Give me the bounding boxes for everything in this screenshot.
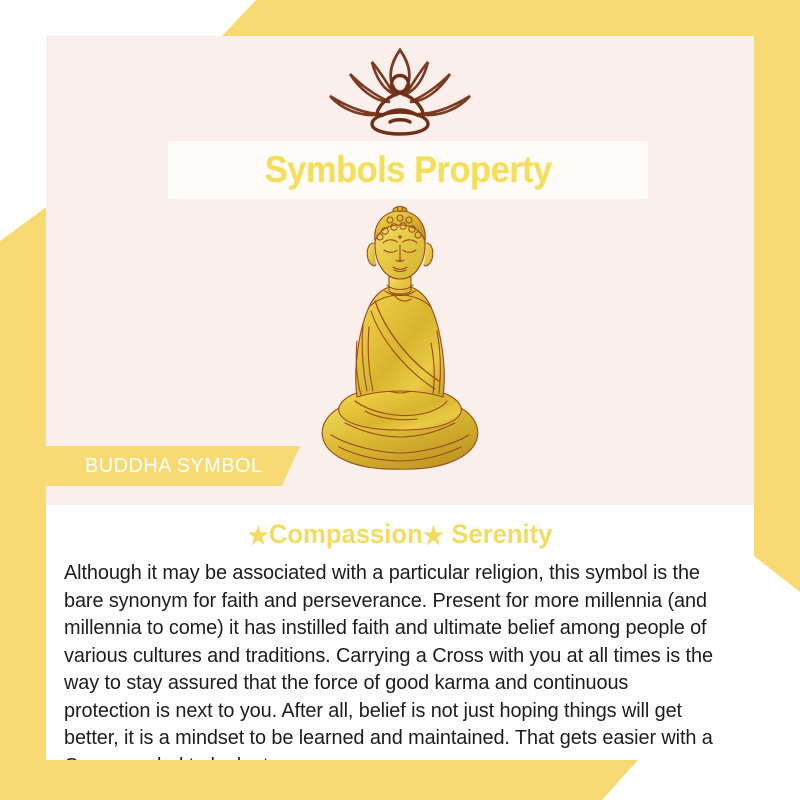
content-panel: ★Compassion★ Serenity Although it may be… bbox=[46, 505, 754, 760]
keyword-compassion: Compassion bbox=[269, 519, 423, 549]
ribbon-label: BUDDHA SYMBOL bbox=[85, 455, 262, 478]
seated-golden-buddha-statue-icon bbox=[305, 201, 495, 501]
star-icon-right: ★ bbox=[423, 522, 444, 550]
poster-canvas: BUDDHA STONES Symbols Property bbox=[46, 36, 754, 760]
title-banner: Symbols Property bbox=[168, 141, 648, 199]
lotus-meditation-figure-icon bbox=[320, 44, 480, 136]
frame-band-right bbox=[754, 0, 800, 592]
keyword-serenity: Serenity bbox=[451, 519, 552, 549]
section-ribbon: BUDDHA SYMBOL bbox=[46, 446, 300, 486]
poster-root: BUDDHA STONES Symbols Property bbox=[0, 0, 800, 800]
keywords-subtitle: ★Compassion★ Serenity bbox=[64, 519, 737, 551]
frame-band-left bbox=[0, 207, 46, 800]
star-icon-left: ★ bbox=[248, 522, 269, 550]
page-title: Symbols Property bbox=[264, 149, 551, 191]
frame-band-top bbox=[222, 0, 800, 36]
body-paragraph: Although it may be associated with a par… bbox=[64, 559, 716, 760]
frame-band-bottom bbox=[0, 760, 638, 800]
